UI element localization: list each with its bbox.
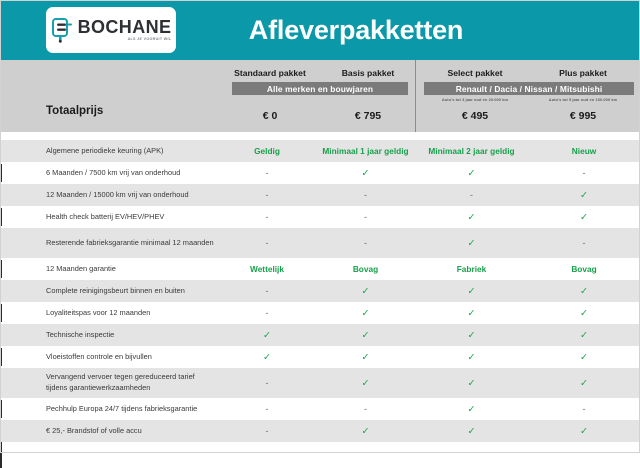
feature-value-basis: Bovag — [316, 264, 415, 274]
check-icon: ✓ — [468, 168, 476, 179]
feature-value-basis: ✓ — [316, 308, 415, 319]
check-icon: ✓ — [362, 426, 370, 437]
feature-value-basis: ✓ — [316, 426, 415, 437]
feature-value-plus: ✓ — [528, 212, 640, 223]
feature-value-select: ✓ — [415, 168, 528, 179]
feature-value-standaard: - — [218, 426, 316, 436]
feature-value-plus: ✓ — [528, 286, 640, 297]
dash-icon: - — [583, 168, 586, 178]
dash-icon: - — [364, 190, 367, 200]
value-text: Nieuw — [572, 146, 596, 156]
dash-icon: - — [364, 238, 367, 248]
feature-label: Complete reinigingsbeurt binnen en buite… — [0, 286, 218, 297]
value-text: Bovag — [353, 264, 378, 274]
feature-value-select: Minimaal 2 jaar geldig — [415, 146, 528, 156]
check-icon: ✓ — [580, 190, 588, 201]
feature-value-select: ✓ — [415, 238, 528, 249]
feature-value-basis: Minimaal 1 jaar geldig — [316, 146, 415, 156]
dash-icon: - — [266, 404, 269, 414]
dash-icon: - — [266, 212, 269, 222]
check-icon: ✓ — [263, 352, 271, 363]
table-row: Health check batterij EV/HEV/PHEV--✓✓ — [0, 206, 640, 228]
feature-label: Pechhulp Europa 24/7 tijdens fabrieksgar… — [0, 404, 218, 415]
feature-value-standaard: ✓ — [218, 330, 316, 341]
feature-value-standaard: - — [218, 190, 316, 200]
value-text: Minimaal 1 jaar geldig — [322, 146, 408, 156]
table-row: Loyaliteitspas voor 12 maanden-✓✓✓ — [0, 302, 640, 324]
price-standaard: € 0 — [218, 110, 322, 122]
feature-label: 12 Maanden garantie — [0, 264, 218, 275]
feature-value-plus: ✓ — [528, 330, 640, 341]
check-icon: ✓ — [468, 404, 476, 415]
feature-value-select: ✓ — [415, 352, 528, 363]
page-header: BOCHANE ALS JE VOORUIT WIL Afleverpakket… — [0, 0, 640, 60]
value-text: Bovag — [571, 264, 596, 274]
page-title: Afleverpakketten — [0, 0, 640, 60]
feature-label: 6 Maanden / 7500 km vrij van onderhoud — [0, 168, 218, 179]
check-icon: ✓ — [468, 352, 476, 363]
feature-value-plus: ✓ — [528, 352, 640, 363]
dash-icon: - — [266, 378, 269, 388]
table-bottom-spacer — [0, 442, 640, 468]
feature-value-plus: - — [528, 168, 640, 178]
feature-value-standaard: Wettelijk — [218, 264, 316, 274]
check-icon: ✓ — [362, 168, 370, 179]
table-row: Technische inspectie✓✓✓✓ — [0, 324, 640, 346]
feature-value-basis: - — [316, 190, 415, 200]
feature-value-select: ✓ — [415, 212, 528, 223]
feature-value-basis: - — [316, 238, 415, 248]
feature-value-standaard: - — [218, 308, 316, 318]
check-icon: ✓ — [468, 330, 476, 341]
table-row: 12 Maanden garantieWettelijkBovagFabriek… — [0, 258, 640, 280]
feature-value-plus: ✓ — [528, 190, 640, 201]
check-icon: ✓ — [468, 238, 476, 249]
feature-value-select: ✓ — [415, 286, 528, 297]
feature-label: Resterende fabrieksgarantie minimaal 12 … — [0, 238, 218, 249]
feature-value-select: - — [415, 190, 528, 200]
check-icon: ✓ — [580, 212, 588, 223]
table-row: Vervangend vervoer tegen gereduceerd tar… — [0, 368, 640, 398]
feature-label: € 25,- Brandstof of volle accu — [0, 426, 218, 437]
dash-icon: - — [266, 238, 269, 248]
feature-value-basis: ✓ — [316, 168, 415, 179]
check-icon: ✓ — [580, 352, 588, 363]
check-icon: ✓ — [468, 308, 476, 319]
dash-icon: - — [266, 426, 269, 436]
feature-value-standaard: - — [218, 238, 316, 248]
afleverpakketten-page: BOCHANE ALS JE VOORUIT WIL Afleverpakket… — [0, 0, 640, 453]
table-row: Resterende fabrieksgarantie minimaal 12 … — [0, 228, 640, 258]
column-header-plus: Plus pakket — [528, 68, 638, 78]
column-subnote-select: Auto's tot 3 jaar oud en 20.000 km — [420, 97, 530, 102]
feature-label: Technische inspectie — [0, 330, 218, 341]
price-select: € 495 — [420, 110, 530, 122]
value-text: Minimaal 2 jaar geldig — [428, 146, 514, 156]
feature-label: Algemene periodieke keuring (APK) — [0, 146, 218, 157]
feature-table-body: Algemene periodieke keuring (APK)GeldigM… — [0, 132, 640, 468]
dash-icon: - — [583, 238, 586, 248]
table-row: 6 Maanden / 7500 km vrij van onderhoud-✓… — [0, 162, 640, 184]
check-icon: ✓ — [362, 286, 370, 297]
table-row: Complete reinigingsbeurt binnen en buite… — [0, 280, 640, 302]
feature-label: Health check batterij EV/HEV/PHEV — [0, 212, 218, 223]
dash-icon: - — [266, 308, 269, 318]
feature-value-standaard: - — [218, 212, 316, 222]
feature-value-standaard: - — [218, 404, 316, 414]
check-icon: ✓ — [580, 286, 588, 297]
dash-icon: - — [470, 190, 473, 200]
column-header-select: Select pakket — [420, 68, 530, 78]
column-subnote-plus: Auto's tot 5 jaar oud en 100.000 km — [528, 97, 638, 102]
feature-value-plus: - — [528, 238, 640, 248]
feature-value-plus: ✓ — [528, 378, 640, 389]
check-icon: ✓ — [362, 308, 370, 319]
check-icon: ✓ — [362, 378, 370, 389]
dash-icon: - — [364, 212, 367, 222]
total-price-label: Totaalprijs — [46, 105, 103, 117]
feature-value-basis: ✓ — [316, 286, 415, 297]
check-icon: ✓ — [362, 330, 370, 341]
feature-value-select: ✓ — [415, 330, 528, 341]
table-row: 12 Maanden / 15000 km vrij van onderhoud… — [0, 184, 640, 206]
feature-label: Vloeistoffen controle en bijvullen — [0, 352, 218, 363]
feature-value-standaard: ✓ — [218, 352, 316, 363]
dash-icon: - — [364, 404, 367, 414]
dash-icon: - — [266, 168, 269, 178]
dash-icon: - — [583, 404, 586, 414]
feature-value-plus: - — [528, 404, 640, 414]
feature-value-standaard: - — [218, 378, 316, 388]
price-plus: € 995 — [528, 110, 638, 122]
value-text: Wettelijk — [250, 264, 284, 274]
check-icon: ✓ — [263, 330, 271, 341]
price-basis: € 795 — [316, 110, 420, 122]
table-top-spacer — [0, 132, 640, 140]
feature-value-standaard: - — [218, 286, 316, 296]
value-text: Fabriek — [457, 264, 487, 274]
feature-value-basis: - — [316, 404, 415, 414]
table-row: Vloeistoffen controle en bijvullen✓✓✓✓ — [0, 346, 640, 368]
feature-value-select: ✓ — [415, 404, 528, 415]
check-icon: ✓ — [580, 330, 588, 341]
feature-value-select: ✓ — [415, 378, 528, 389]
column-header-basis: Basis pakket — [316, 68, 420, 78]
check-icon: ✓ — [580, 308, 588, 319]
group-badge-alle-merken: Alle merken en bouwjaren — [232, 82, 408, 95]
feature-value-basis: ✓ — [316, 352, 415, 363]
feature-value-standaard: - — [218, 168, 316, 178]
check-icon: ✓ — [580, 378, 588, 389]
dash-icon: - — [266, 286, 269, 296]
feature-value-select: ✓ — [415, 426, 528, 437]
feature-value-basis: - — [316, 212, 415, 222]
feature-value-plus: Nieuw — [528, 146, 640, 156]
check-icon: ✓ — [468, 212, 476, 223]
column-header-standaard: Standaard pakket — [218, 68, 322, 78]
feature-label: 12 Maanden / 15000 km vrij van onderhoud — [0, 190, 218, 201]
table-row: € 25,- Brandstof of volle accu-✓✓✓ — [0, 420, 640, 442]
table-row: Pechhulp Europa 24/7 tijdens fabrieksgar… — [0, 398, 640, 420]
table-row: Algemene periodieke keuring (APK)GeldigM… — [0, 140, 640, 162]
check-icon: ✓ — [580, 426, 588, 437]
feature-value-basis: ✓ — [316, 330, 415, 341]
check-icon: ✓ — [362, 352, 370, 363]
feature-label: Loyaliteitspas voor 12 maanden — [0, 308, 218, 319]
check-icon: ✓ — [468, 286, 476, 297]
feature-value-select: Fabriek — [415, 264, 528, 274]
feature-label: Vervangend vervoer tegen gereduceerd tar… — [0, 372, 218, 393]
feature-value-standaard: Geldig — [218, 146, 316, 156]
dash-icon: - — [266, 190, 269, 200]
feature-value-select: ✓ — [415, 308, 528, 319]
check-icon: ✓ — [468, 426, 476, 437]
check-icon: ✓ — [468, 378, 476, 389]
feature-value-plus: ✓ — [528, 308, 640, 319]
value-text: Geldig — [254, 146, 280, 156]
feature-value-plus: Bovag — [528, 264, 640, 274]
group-badge-merken-select-plus: Renault / Dacia / Nissan / Mitsubishi — [424, 82, 634, 95]
feature-value-plus: ✓ — [528, 426, 640, 437]
feature-value-basis: ✓ — [316, 378, 415, 389]
